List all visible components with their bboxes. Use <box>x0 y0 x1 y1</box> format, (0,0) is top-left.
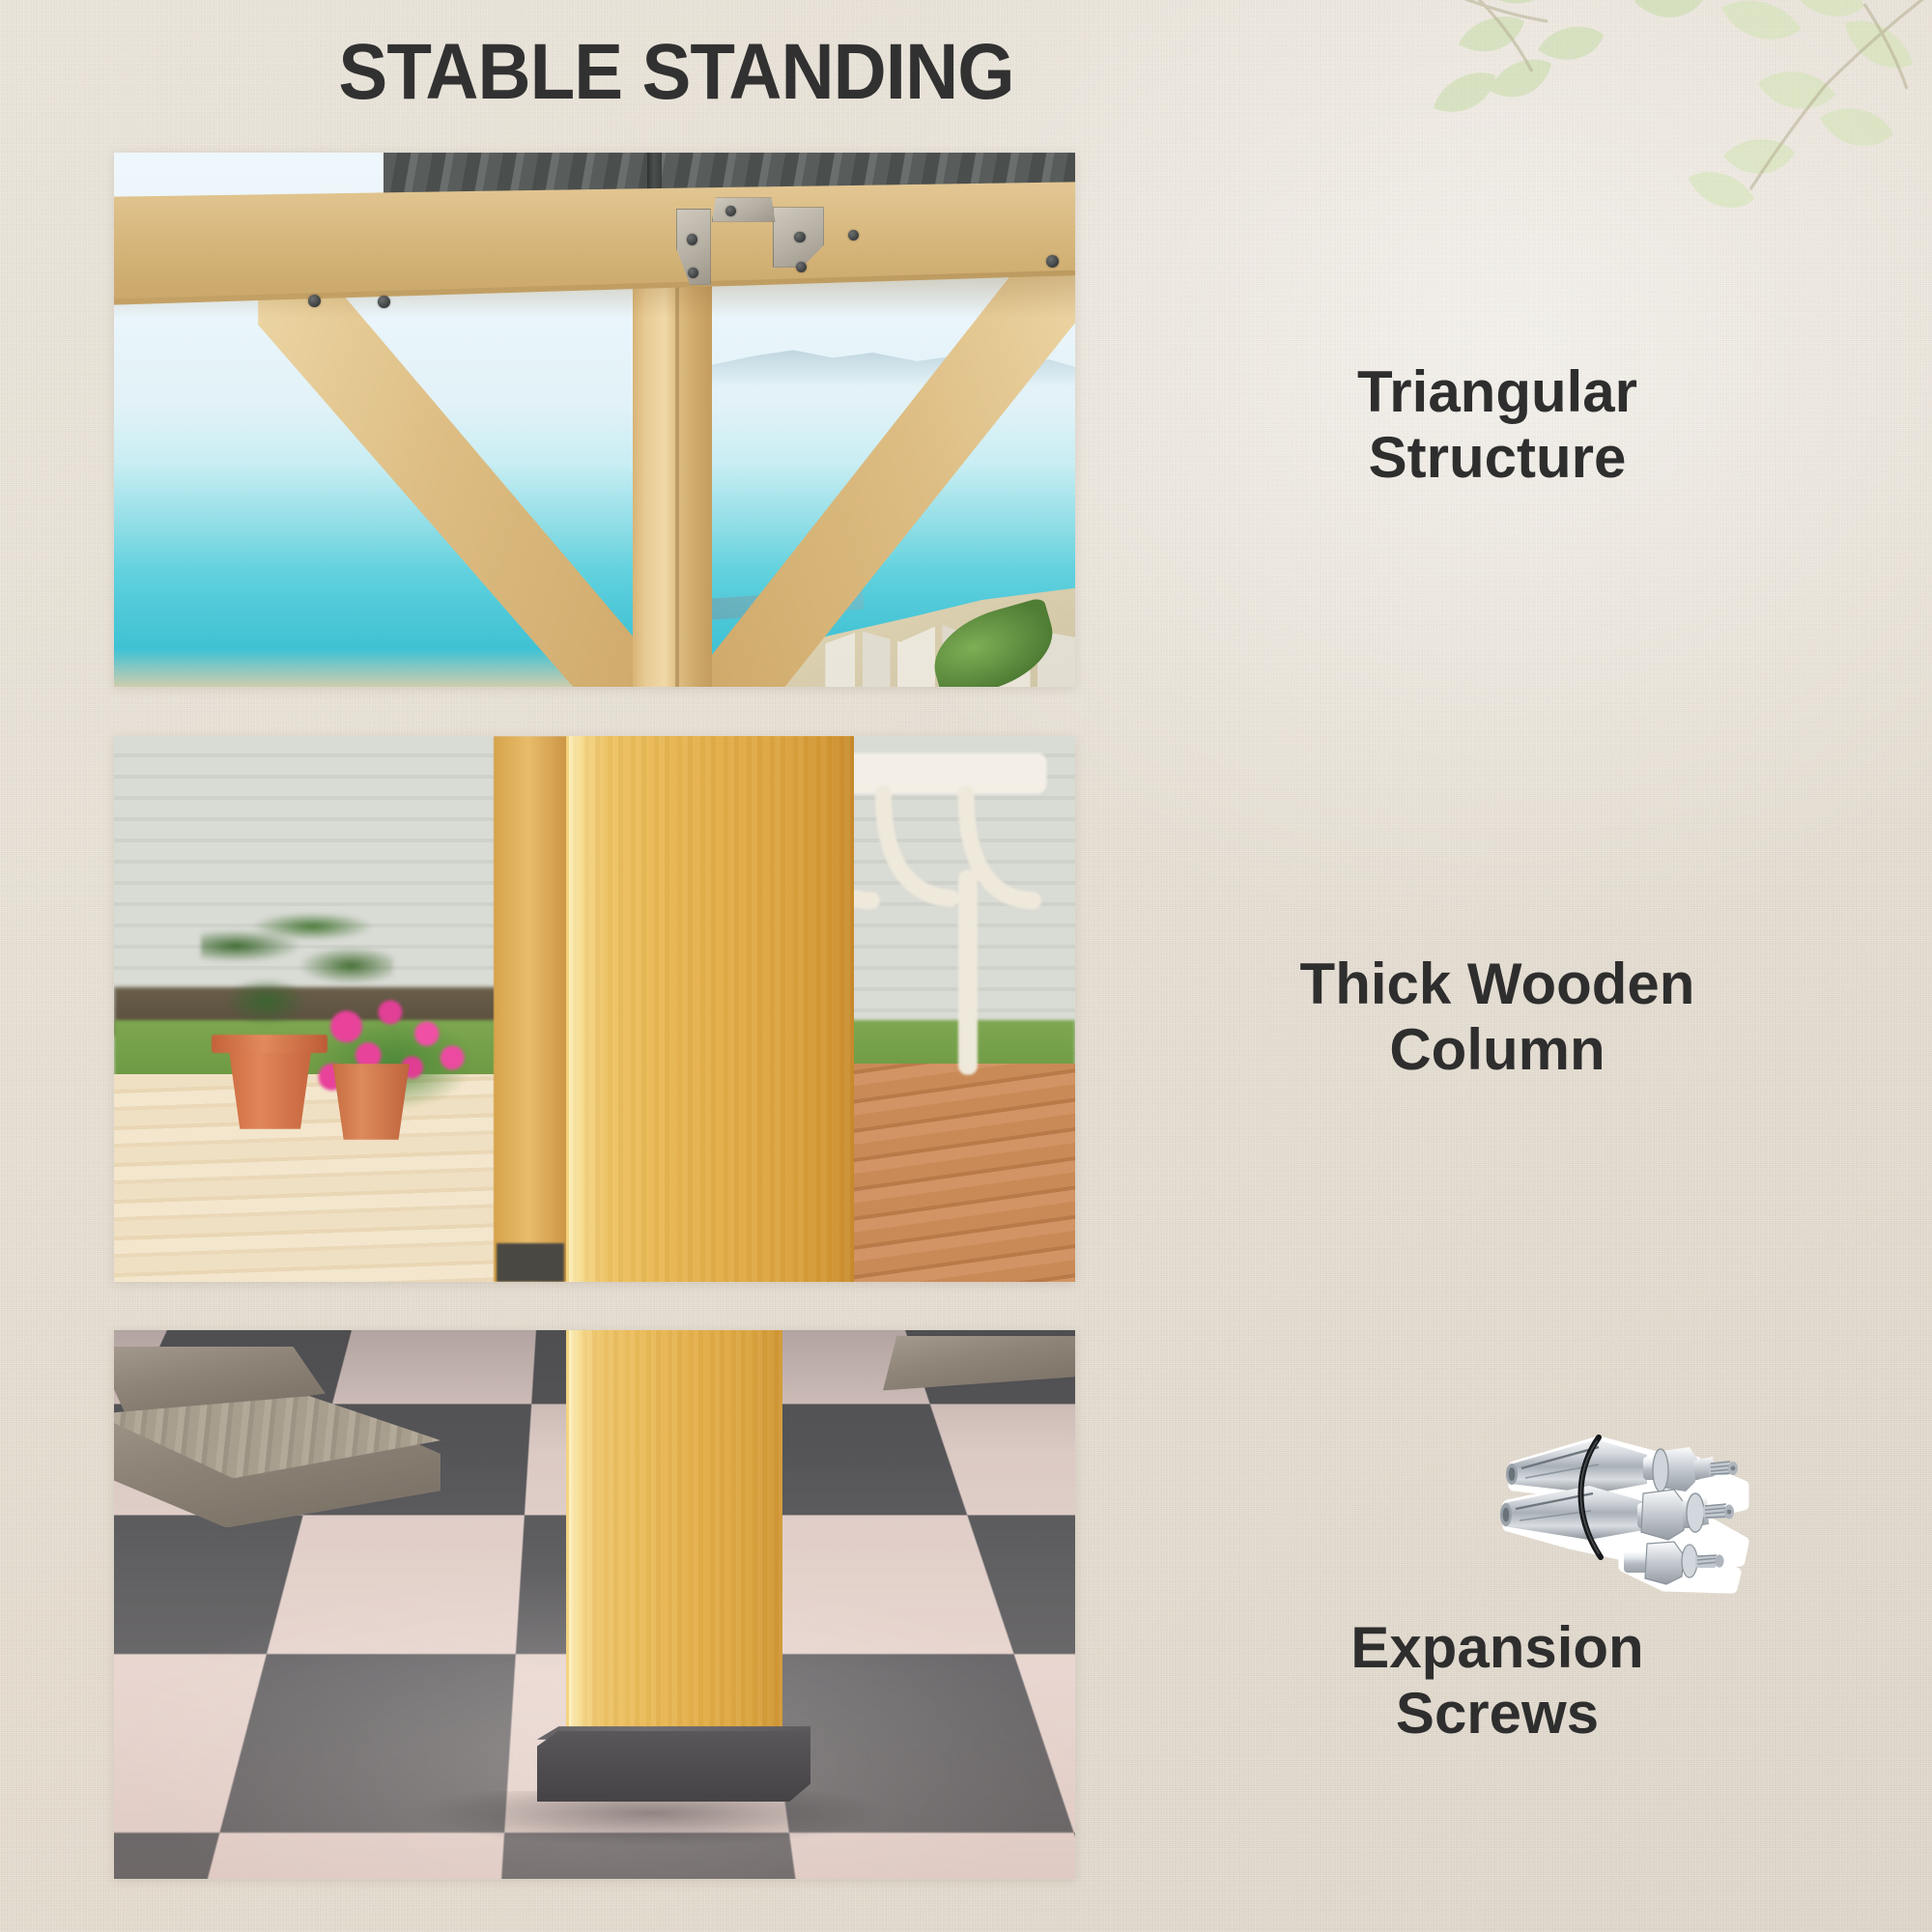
column-wood-grain <box>566 736 855 1282</box>
bolt <box>1046 255 1059 268</box>
post-edge-line <box>675 254 678 687</box>
label-line-1: Thick Wooden <box>1111 952 1884 1017</box>
column-wood-grain <box>566 1330 782 1758</box>
column-highlight-edge <box>569 1330 581 1758</box>
secondary-column <box>494 736 571 1282</box>
panel-column-base[interactable] <box>114 1330 1075 1879</box>
bolt <box>687 234 697 245</box>
label-line-2: Structure <box>1140 425 1855 491</box>
post-base-foot-bracket <box>537 1731 811 1803</box>
page-title: STABLE STANDING <box>47 27 1305 118</box>
label-line-1: Expansion <box>1140 1615 1855 1681</box>
terracotta-pot-rim <box>212 1035 327 1053</box>
column-highlight-edge <box>569 736 582 1282</box>
thick-wooden-column-patio-photo <box>114 736 1075 1282</box>
label-triangular-structure: Triangular Structure <box>1140 359 1855 492</box>
post-base-foot-background <box>497 1243 564 1282</box>
gazebo-corner-triangular-brace-photo <box>114 153 1075 687</box>
expansion-screws-bundle-image <box>1454 1381 1840 1599</box>
column-base-foot-tiled-floor-photo <box>114 1330 1075 1879</box>
metal-bracket-center <box>712 197 776 221</box>
label-line-2: Screws <box>1140 1681 1855 1747</box>
label-thick-wooden-column: Thick Wooden Column <box>1111 952 1884 1084</box>
panel-thick-wooden-column[interactable] <box>114 736 1075 1282</box>
vertical-corner-post <box>633 254 712 687</box>
label-expansion-screws: Expansion Screws <box>1140 1615 1855 1747</box>
label-line-1: Triangular <box>1140 359 1855 425</box>
label-line-2: Column <box>1111 1017 1884 1083</box>
panel-triangular-structure[interactable] <box>114 153 1075 687</box>
bolt <box>848 230 859 241</box>
